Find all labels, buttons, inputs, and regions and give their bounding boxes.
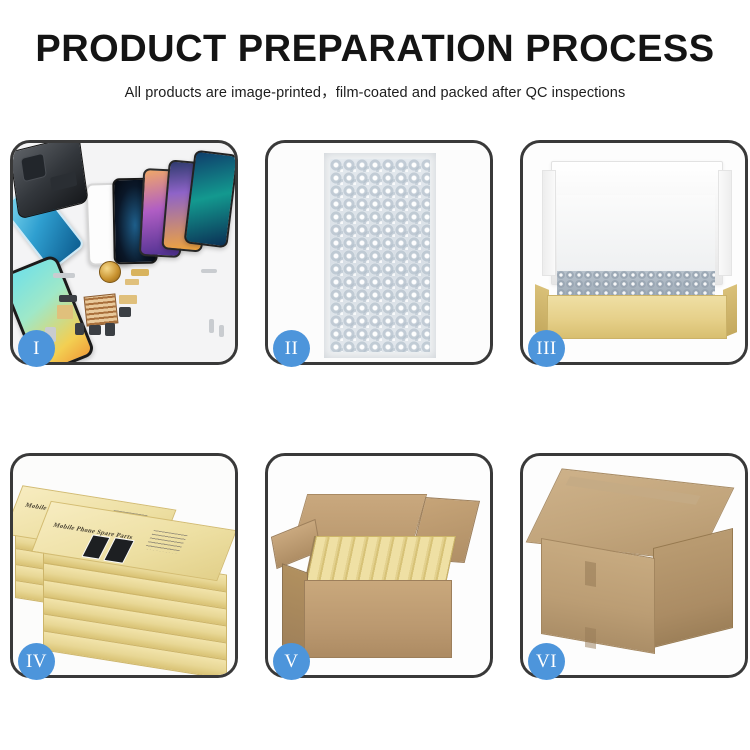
spare-part xyxy=(53,273,75,278)
step-badge-3: III xyxy=(528,330,565,367)
step-5-image xyxy=(268,456,490,675)
sealed-carton-front-face xyxy=(541,538,655,654)
spare-part xyxy=(201,269,217,273)
connector-chip-grid xyxy=(84,293,119,326)
sealed-carton-side-face xyxy=(653,528,733,648)
carton-front-face xyxy=(304,580,452,658)
step-badge-6: VI xyxy=(528,643,565,680)
bubble-pattern xyxy=(330,159,430,352)
bubble-wrap-strip xyxy=(324,153,436,358)
process-steps-grid: Mobile Phone Spare Parts Mobile Phone Sp… xyxy=(10,140,740,740)
inner-box-front-face xyxy=(547,295,727,339)
speaker-part xyxy=(99,261,121,283)
product-preparation-infographic: PRODUCT PREPARATION PROCESS All products… xyxy=(0,0,750,750)
sealed-carton-seam xyxy=(585,561,596,587)
page-title: PRODUCT PREPARATION PROCESS xyxy=(0,0,750,70)
step-badge-5: V xyxy=(273,643,310,680)
spare-part xyxy=(125,279,139,285)
screw xyxy=(219,325,224,337)
step-badge-4: IV xyxy=(18,643,55,680)
retail-box-stack: Mobile Phone Spare Parts Mobile Phone Sp… xyxy=(13,456,235,675)
step-3-image xyxy=(523,143,745,362)
spare-part xyxy=(119,307,131,317)
phone-back-housing xyxy=(13,143,89,220)
header: PRODUCT PREPARATION PROCESS All products… xyxy=(0,0,750,102)
page-subtitle: All products are image-printed，film-coat… xyxy=(0,70,750,102)
step-badge-1: I xyxy=(18,330,55,367)
step-4-image: Mobile Phone Spare Parts Mobile Phone Sp… xyxy=(13,456,235,675)
sealed-carton-seam xyxy=(585,627,596,649)
spare-part xyxy=(59,295,77,302)
spare-part xyxy=(89,325,101,335)
spare-part xyxy=(57,305,73,319)
step-6-image xyxy=(523,456,745,675)
spare-part xyxy=(119,295,137,304)
inner-box-contents xyxy=(557,271,715,297)
step-2-image xyxy=(268,143,490,362)
step-badge-2: II xyxy=(273,330,310,367)
spare-part xyxy=(75,323,84,335)
spare-part xyxy=(131,269,149,276)
spare-part xyxy=(105,323,115,336)
step-1-image xyxy=(13,143,235,362)
screw xyxy=(209,319,214,333)
inner-box-foam xyxy=(557,195,715,273)
